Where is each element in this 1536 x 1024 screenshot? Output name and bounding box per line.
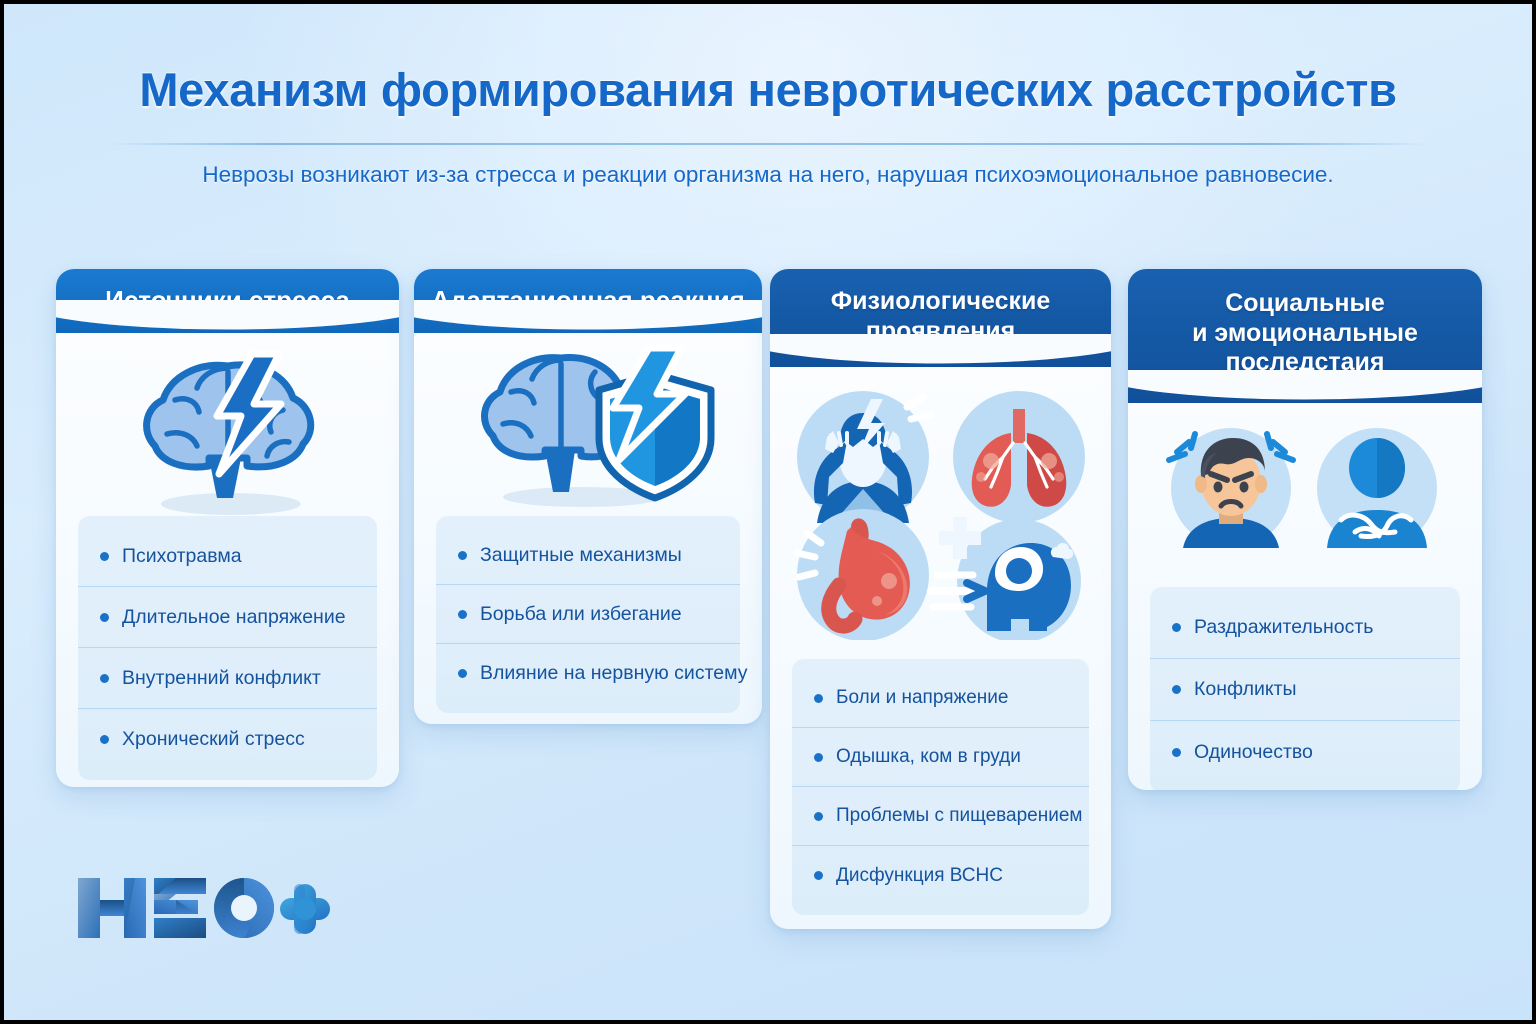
card-physiological-manifestations[interactable]: Физиологические проявления xyxy=(770,269,1111,929)
bullet-icon xyxy=(1172,748,1181,757)
list-item[interactable]: Конфликты xyxy=(1150,659,1460,721)
card-adaptive-reaction[interactable]: Адаптационная реакция xyxy=(414,269,762,724)
list-item-label: Дисфункция ВСНС xyxy=(836,865,1003,887)
stomach-icon xyxy=(797,509,929,640)
list-item[interactable]: Дисфункция ВСНС xyxy=(792,846,1089,905)
bullet-icon xyxy=(458,551,467,560)
card-sources-of-stress[interactable]: Источники стресса Психо xyxy=(56,269,399,787)
list-adaptive-reaction: Защитные механизмы Борьба или избегание … xyxy=(436,516,740,713)
physiological-icons-group xyxy=(781,385,1101,640)
list-item[interactable]: Боли и напряжение xyxy=(792,669,1089,728)
bullet-icon xyxy=(100,613,109,622)
list-item-label: Боли и напряжение xyxy=(836,687,1008,709)
neo-plus-logo[interactable] xyxy=(72,862,332,954)
bullet-icon xyxy=(100,552,109,561)
list-sources-of-stress: Психотравма Длительное напряжение Внутре… xyxy=(78,516,377,780)
card-header-social-emotional-consequences: Социальные и эмоциональные последстаия xyxy=(1128,269,1482,403)
bullet-icon xyxy=(814,812,823,821)
icon-area-brain-lightning xyxy=(56,343,399,523)
card-social-emotional-consequences[interactable]: Социальные и эмоциональные последстаия xyxy=(1128,269,1482,790)
card-title-line-1: Физиологические xyxy=(831,287,1051,315)
page-title: Механизм формирования невротических расс… xyxy=(4,62,1532,117)
infographic-canvas: Механизм формирования невротических расс… xyxy=(4,4,1532,1020)
list-item-label: Одиночество xyxy=(1194,741,1313,764)
list-item-label: Проблемы с пищеварением xyxy=(836,805,1082,827)
bullet-icon xyxy=(814,694,823,703)
list-item-label: Раздражительность xyxy=(1194,616,1373,639)
list-item-label: Длительное напряжение xyxy=(122,606,346,629)
headache-person-icon xyxy=(797,391,931,523)
bullet-icon xyxy=(100,674,109,683)
page-subtitle: Неврозы возникают из-за стресса и реакци… xyxy=(4,162,1532,188)
list-item[interactable]: Одиночество xyxy=(1150,721,1460,783)
list-item[interactable]: Борьба или избегание xyxy=(436,585,740,644)
list-item-label: Одышка, ком в груди xyxy=(836,746,1021,768)
list-item[interactable]: Влияние на нервную систему xyxy=(436,644,740,703)
list-item[interactable]: Проблемы с пищеварением xyxy=(792,787,1089,846)
icon-area-social-emotional xyxy=(1128,421,1482,555)
brain-lightning-icon xyxy=(113,346,343,521)
bullet-icon xyxy=(458,669,467,678)
card-header-adaptive-reaction: Адаптационная реакция xyxy=(414,269,762,333)
bullet-icon xyxy=(1172,685,1181,694)
angry-face-icon xyxy=(1169,428,1293,548)
header-curve-shape xyxy=(770,334,1111,368)
list-item[interactable]: Психотравма xyxy=(78,526,377,587)
list-item-label: Хронический стресс xyxy=(122,728,305,751)
card-header-sources-of-stress: Источники стресса xyxy=(56,269,399,333)
bullet-icon xyxy=(814,753,823,762)
lungs-icon xyxy=(953,391,1085,523)
icon-area-brain-shield xyxy=(414,341,762,513)
title-divider xyxy=(108,143,1428,145)
list-physiological-manifestations: Боли и напряжение Одышка, ком в груди Пр… xyxy=(792,659,1089,915)
list-item[interactable]: Раздражительность xyxy=(1150,597,1460,659)
list-item-label: Влияние на нервную систему xyxy=(480,662,748,685)
list-item[interactable]: Защитные механизмы xyxy=(436,526,740,585)
list-item[interactable]: Длительное напряжение xyxy=(78,587,377,648)
list-item-label: Борьба или избегание xyxy=(480,603,682,626)
list-item-label: Психотравма xyxy=(122,545,242,568)
social-emotional-icons-group xyxy=(1155,424,1455,552)
bullet-icon xyxy=(1172,623,1181,632)
bullet-icon xyxy=(814,871,823,880)
list-item-label: Защитные механизмы xyxy=(480,544,682,567)
card-title-line-2: и эмоциональные xyxy=(1192,319,1418,347)
card-title-social-emotional-consequences: Социальные и эмоциональные последстаия xyxy=(1182,289,1428,378)
header-curve-shape xyxy=(56,300,399,334)
icon-area-physiological xyxy=(770,381,1111,643)
card-title-line-1: Социальные xyxy=(1225,289,1385,317)
bullet-icon xyxy=(458,610,467,619)
list-item-label: Конфликты xyxy=(1194,678,1297,701)
list-social-emotional-consequences: Раздражительность Конфликты Одиночество xyxy=(1150,587,1460,790)
lonely-person-icon xyxy=(1317,428,1437,548)
list-item[interactable]: Хронический стресс xyxy=(78,709,377,770)
card-header-physiological-manifestations: Физиологические проявления xyxy=(770,269,1111,367)
brain-shield-lightning-icon xyxy=(453,342,723,512)
list-item-label: Внутренний конфликт xyxy=(122,667,321,690)
bullet-icon xyxy=(100,735,109,744)
header-curve-shape xyxy=(414,300,762,334)
neo-plus-logo-mark xyxy=(72,862,332,954)
list-item[interactable]: Внутренний конфликт xyxy=(78,648,377,709)
list-item[interactable]: Одышка, ком в груди xyxy=(792,728,1089,787)
head-dizziness-icon xyxy=(931,517,1081,640)
header-curve-shape xyxy=(1128,370,1482,404)
